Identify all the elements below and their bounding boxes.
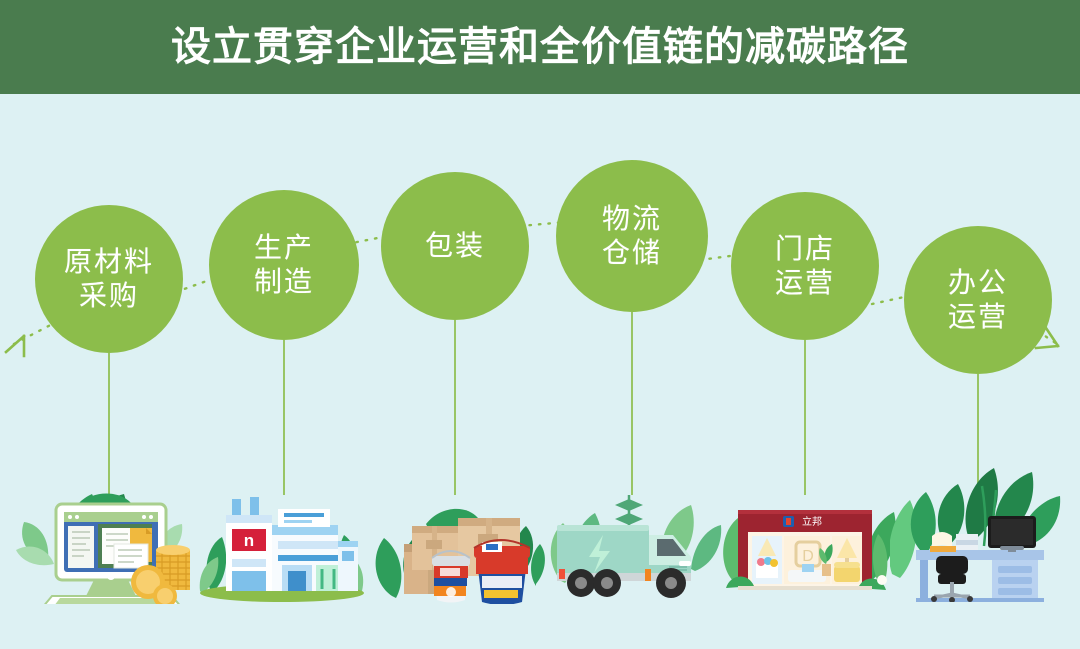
title-banner: 设立贯穿企业运营和全价值链的减碳路径 [0, 0, 1080, 94]
illustration-boxes-paint-buckets [370, 472, 550, 604]
bubble-store-operations[interactable]: 门店 运营 [731, 192, 879, 340]
office-desk-icon [916, 550, 1044, 602]
stem-2 [283, 340, 285, 495]
store-sign-text: 立邦 [802, 515, 822, 528]
bubble-office-operations[interactable]: 办公 运营 [904, 226, 1052, 374]
office-chair-icon [931, 556, 973, 602]
bubble-label: 生产 制造 [254, 231, 314, 299]
factory-building-icon: n [226, 497, 358, 591]
bubble-label: 物流 仓储 [602, 202, 662, 270]
stem-4 [631, 312, 633, 495]
bubble-logistics-warehousing[interactable]: 物流 仓储 [556, 160, 708, 312]
bubble-label: 办公 运营 [948, 266, 1008, 334]
page-title: 设立贯穿企业运营和全价值链的减碳路径 [171, 27, 909, 67]
infographic-canvas: 设立贯穿企业运营和全价值链的减碳路径 [0, 0, 1080, 649]
bubble-label: 门店 运营 [775, 232, 835, 300]
bubble-label: 包装 [425, 229, 485, 263]
illustration-retail-store: 立邦 D [712, 466, 898, 604]
svg-text:n: n [244, 531, 254, 550]
illustration-office-desk [890, 454, 1074, 602]
bubble-production-manufacturing[interactable]: 生产 制造 [209, 190, 359, 340]
illustration-electric-truck [545, 469, 725, 604]
bubble-raw-material-sourcing[interactable]: 原材料 采购 [35, 205, 183, 353]
store-front-icon: 立邦 D [726, 510, 887, 590]
bubble-packaging[interactable]: 包装 [381, 172, 529, 320]
svg-text:D: D [802, 548, 814, 565]
electric-truck-icon [557, 525, 691, 598]
bubble-label: 原材料 采购 [64, 245, 154, 313]
arrow-in-left-icon [6, 336, 24, 356]
paint-bucket-small-icon [432, 551, 470, 603]
value-chain-flow: 原材料 采购 生产 制造 包装 物流 仓储 [0, 94, 1080, 649]
monitor-icon [988, 516, 1036, 552]
paint-bucket-large-icon [474, 540, 530, 604]
illustration-computer-documents-coins [8, 464, 198, 604]
illustration-factory-building: n [192, 479, 372, 604]
stem-3 [454, 320, 456, 495]
